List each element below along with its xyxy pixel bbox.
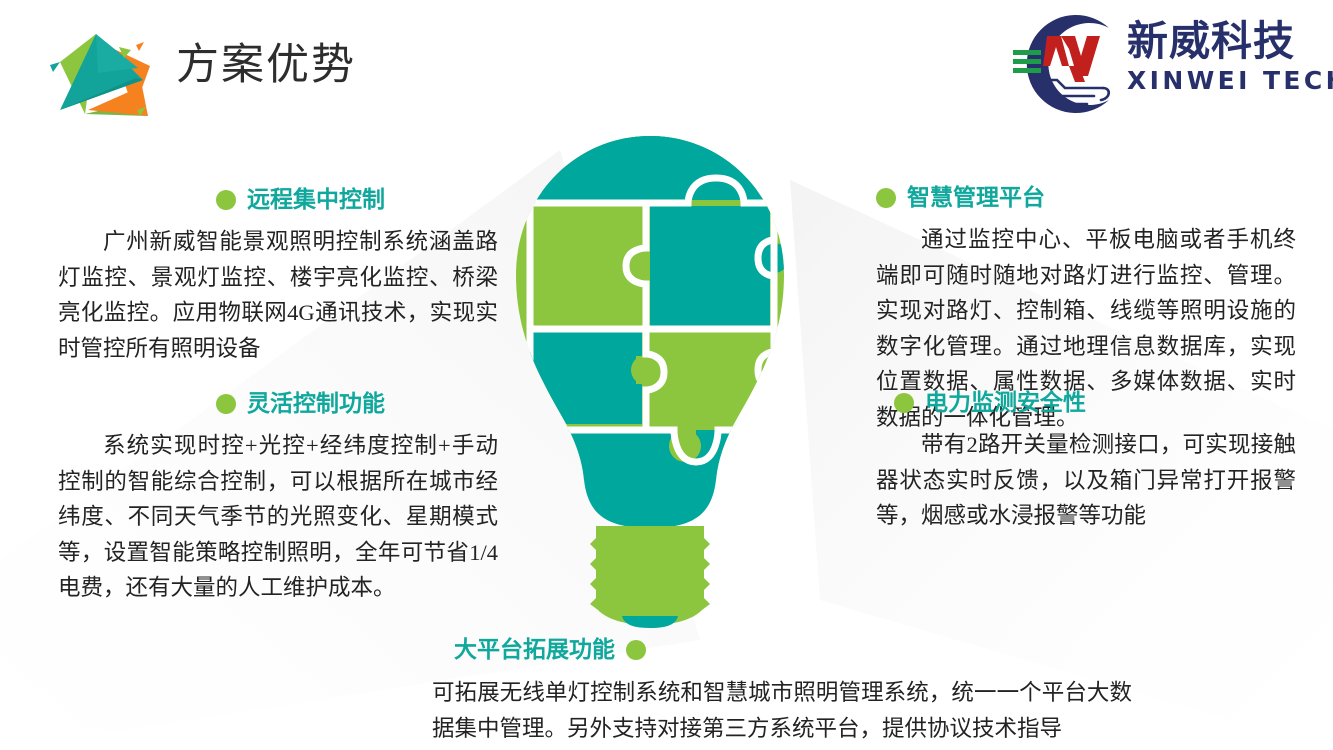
bullet-dot-icon bbox=[216, 394, 236, 414]
feature-block-expand: 大平台拓展功能 可拓展无线单灯控制系统和智慧城市照明管理系统，统一一个平台大数据… bbox=[432, 635, 1132, 746]
bullet-dot-icon bbox=[216, 190, 236, 210]
bullet-dot-icon bbox=[894, 393, 914, 413]
feature-heading-power: 电力监测安全性 bbox=[876, 388, 1296, 418]
brand-name-en: XINWEI TECH bbox=[1127, 66, 1299, 96]
feature-heading-remote: 远程集中控制 bbox=[58, 185, 498, 215]
feature-heading-expand: 大平台拓展功能 bbox=[432, 635, 1132, 665]
brand-text: 新威科技 XINWEI TECH bbox=[1127, 18, 1299, 96]
feature-block-flex: 灵活控制功能 系统实现时控+光控+经纬度控制+手动控制的智能综合控制，可以根据所… bbox=[58, 389, 498, 606]
brand-logo: 新威科技 XINWEI TECH bbox=[999, 12, 1299, 116]
feature-heading-text: 大平台拓展功能 bbox=[454, 635, 615, 665]
xinwei-c-ring-circuit-logo-icon bbox=[999, 14, 1127, 114]
feature-body-expand: 可拓展无线单灯控制系统和智慧城市照明管理系统，统一一个平台大数据集中管理。另外支… bbox=[432, 675, 1132, 746]
page-title: 方案优势 bbox=[176, 36, 356, 94]
origami-triangles-icon bbox=[38, 18, 168, 123]
feature-heading-platform: 智慧管理平台 bbox=[876, 183, 1296, 213]
lightbulb-puzzle-icon bbox=[478, 128, 822, 628]
feature-heading-text: 电力监测安全性 bbox=[925, 388, 1086, 418]
feature-body-flex: 系统实现时控+光控+经纬度控制+手动控制的智能综合控制，可以根据所在城市经纬度、… bbox=[58, 428, 498, 606]
feature-block-remote: 远程集中控制 广州新威智能景观照明控制系统涵盖路灯监控、景观灯监控、楼宇亮化监控… bbox=[58, 185, 498, 366]
slide-canvas: 方案优势 bbox=[0, 0, 1333, 750]
feature-heading-text: 智慧管理平台 bbox=[907, 183, 1045, 213]
feature-heading-text: 灵活控制功能 bbox=[247, 389, 385, 419]
brand-name-cn: 新威科技 bbox=[1127, 18, 1299, 64]
feature-body-power: 带有2路开关量检测接口，可实现接触器状态实时反馈，以及箱门异常打开报警等，烟感或… bbox=[876, 427, 1296, 534]
bullet-dot-icon bbox=[876, 188, 896, 208]
feature-heading-flex: 灵活控制功能 bbox=[58, 389, 498, 419]
bullet-dot-icon bbox=[626, 640, 646, 660]
feature-body-remote: 广州新威智能景观照明控制系统涵盖路灯监控、景观灯监控、楼宇亮化监控、桥梁亮化监控… bbox=[58, 224, 498, 366]
feature-heading-text: 远程集中控制 bbox=[247, 185, 385, 215]
feature-block-power: 电力监测安全性 带有2路开关量检测接口，可实现接触器状态实时反馈，以及箱门异常打… bbox=[876, 388, 1296, 534]
